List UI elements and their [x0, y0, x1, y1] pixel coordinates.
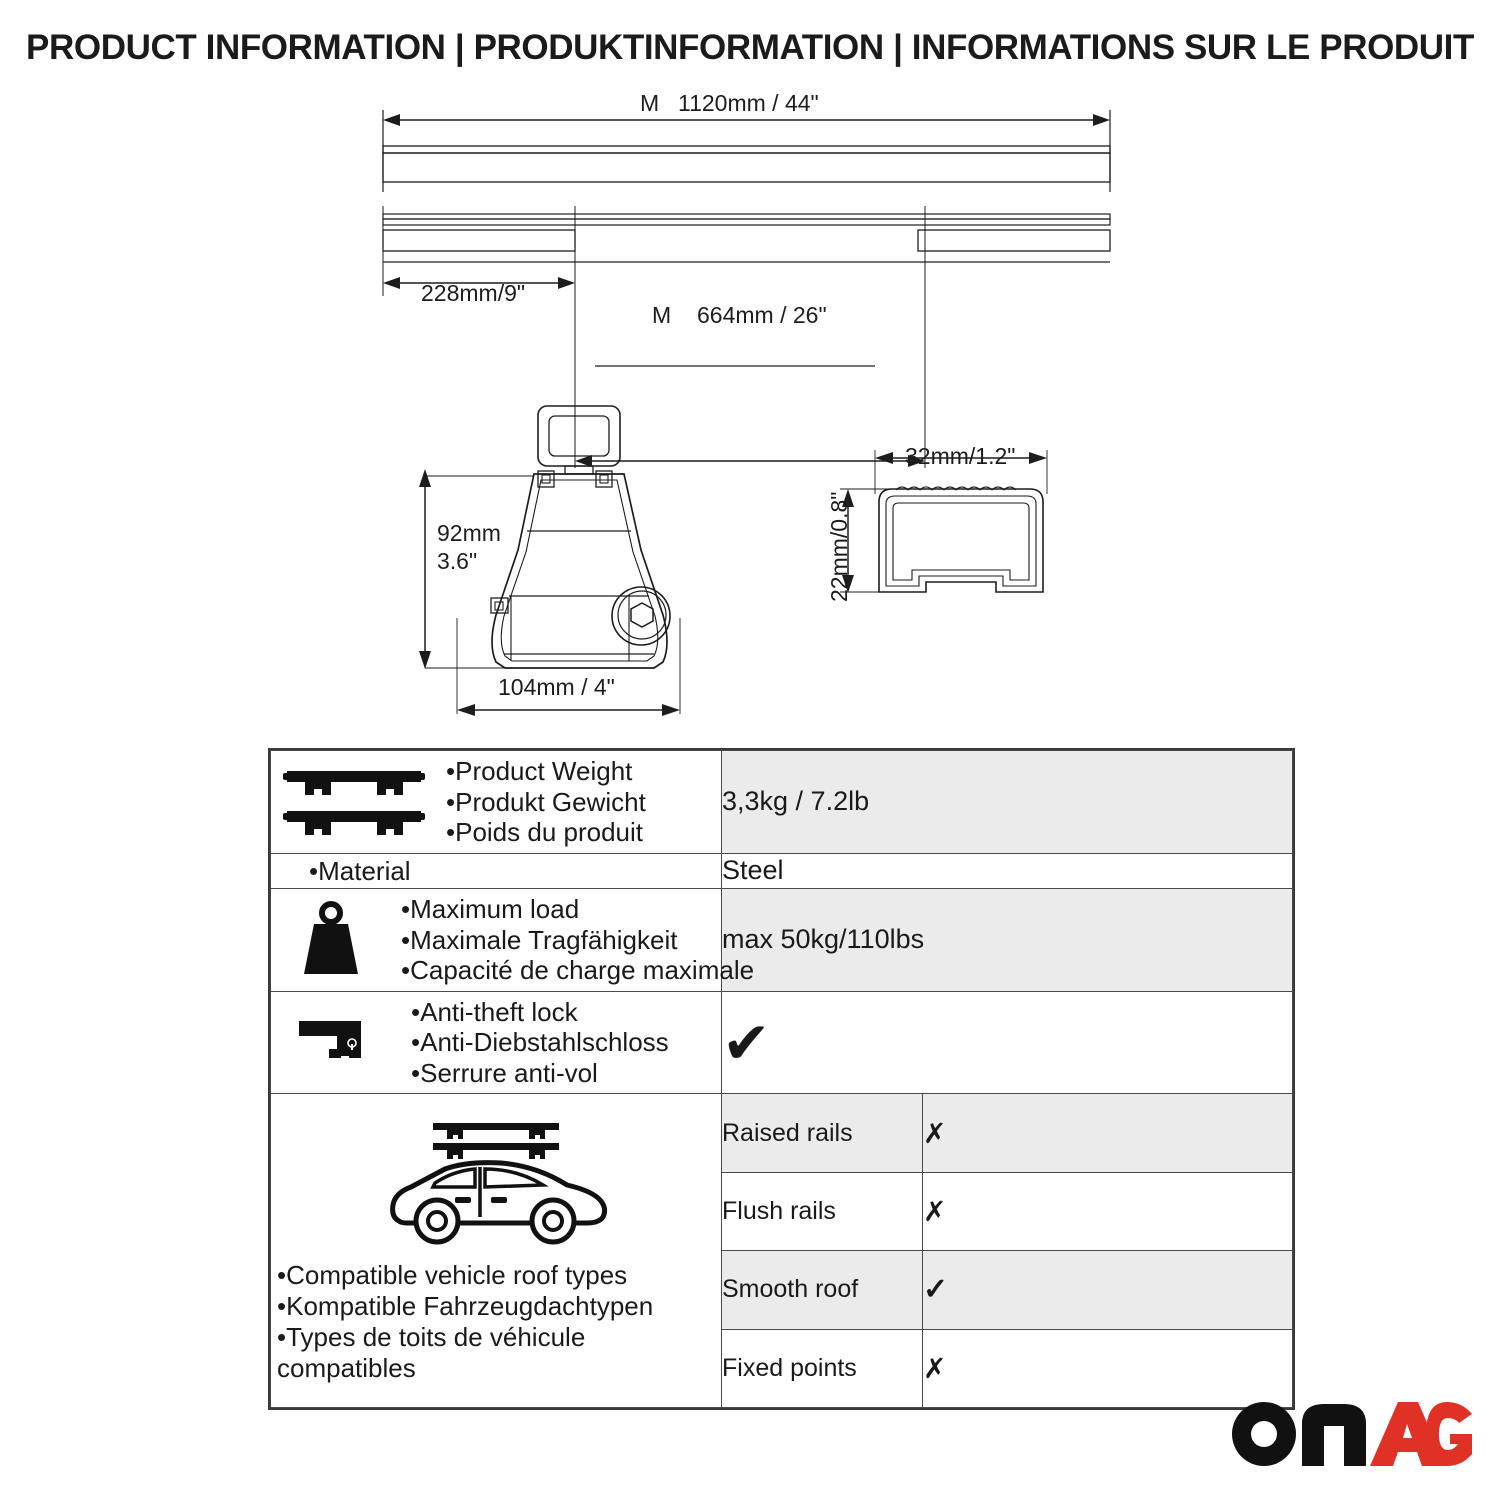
- spec-label-cell: •Maximum load •Maximale Tragfähigkeit •C…: [271, 889, 722, 992]
- weight-icon: [271, 900, 391, 980]
- foot-height-mm-label: 92mm: [437, 520, 501, 547]
- roof-type-table: Raised rails ✗ Flush rails ✗ Smooth roof: [722, 1094, 1292, 1407]
- foot-height-inch-label: 3.6": [437, 548, 477, 575]
- table-row: •Maximum load •Maximale Tragfähigkeit •C…: [271, 889, 1293, 992]
- spec-label-cell: •Product Weight •Produkt Gewicht •Poids …: [271, 751, 722, 854]
- foot-offset-dimension: 228mm/9": [421, 280, 525, 307]
- roof-type-name: Smooth roof: [722, 1251, 923, 1329]
- roof-type-row-fixed-points: Fixed points ✗: [722, 1329, 1292, 1407]
- table-row: •Anti-theft lock •Anti-Diebstahlschloss …: [271, 991, 1293, 1094]
- roof-type-name: Fixed points: [722, 1329, 923, 1407]
- table-row-compatibility: •Compatible vehicle roof types •Kompatib…: [271, 1094, 1293, 1408]
- compatibility-label-text: •Compatible vehicle roof types •Kompatib…: [271, 1260, 697, 1385]
- spec-label-text: •Maximum load •Maximale Tragfähigkeit •C…: [401, 894, 754, 986]
- spec-label-text: •Product Weight •Produkt Gewicht •Poids …: [446, 756, 646, 848]
- check-icon: ✓: [923, 1273, 948, 1306]
- spec-value-weight: 3,3kg / 7.2lb: [722, 751, 1293, 854]
- spec-label-text: •Material: [271, 856, 411, 887]
- roof-type-mark: ✓: [923, 1251, 1293, 1329]
- cross-icon: ✗: [923, 1117, 946, 1150]
- cross-icon: ✗: [923, 1352, 946, 1385]
- page-title: PRODUCT INFORMATION | PRODUKTINFORMATION…: [0, 28, 1500, 68]
- span-dimension-prefix: M: [652, 302, 671, 329]
- roof-type-row-smooth-roof: Smooth roof ✓: [722, 1251, 1292, 1329]
- spec-label-text: •Anti-theft lock •Anti-Diebstahlschloss …: [411, 997, 669, 1089]
- bar-length-dimension-prefix: M: [640, 90, 659, 117]
- spec-value-max-load: max 50kg/110lbs: [722, 889, 1293, 992]
- cross-icon: ✗: [923, 1195, 946, 1228]
- foot-width-dimension: 104mm / 4": [498, 674, 615, 701]
- spec-label-cell: •Anti-theft lock •Anti-Diebstahlschloss …: [271, 991, 722, 1094]
- check-icon: ✔: [722, 1009, 771, 1077]
- technical-drawings: M 1120mm / 44" 228mm/9" M 664mm / 26": [0, 80, 1500, 735]
- roof-type-row-raised-rails: Raised rails ✗: [722, 1094, 1292, 1172]
- lock-icon: [271, 1011, 401, 1075]
- spec-value-material: Steel: [722, 853, 1293, 888]
- bar-length-dimension: 1120mm / 44": [678, 90, 819, 117]
- profile-height-dimension: 22mm/0.8": [826, 492, 853, 602]
- table-row: •Material Steel: [271, 853, 1293, 888]
- spec-label-cell: •Material: [271, 853, 722, 888]
- car-with-roof-rack-icon: [271, 1117, 721, 1252]
- omac-logo-mark: [1226, 1394, 1472, 1472]
- spec-value-anti-theft: ✔: [722, 991, 1293, 1094]
- roof-type-name: Flush rails: [722, 1172, 923, 1250]
- profile-width-dimension: 32mm/1.2": [905, 443, 1015, 470]
- roof-type-name: Raised rails: [722, 1094, 923, 1172]
- crossbars-icon: [271, 763, 436, 841]
- roof-type-mark: ✗: [923, 1094, 1293, 1172]
- compatibility-label-cell: •Compatible vehicle roof types •Kompatib…: [271, 1094, 722, 1408]
- roof-type-row-flush-rails: Flush rails ✗: [722, 1172, 1292, 1250]
- omac-logo: [1226, 1394, 1472, 1472]
- table-row: •Product Weight •Produkt Gewicht •Poids …: [271, 751, 1293, 854]
- roof-type-subtable-cell: Raised rails ✗ Flush rails ✗ Smooth roof: [722, 1094, 1293, 1408]
- span-dimension: 664mm / 26": [697, 302, 827, 329]
- specification-table: •Product Weight •Produkt Gewicht •Poids …: [268, 748, 1295, 1410]
- roof-type-mark: ✗: [923, 1172, 1293, 1250]
